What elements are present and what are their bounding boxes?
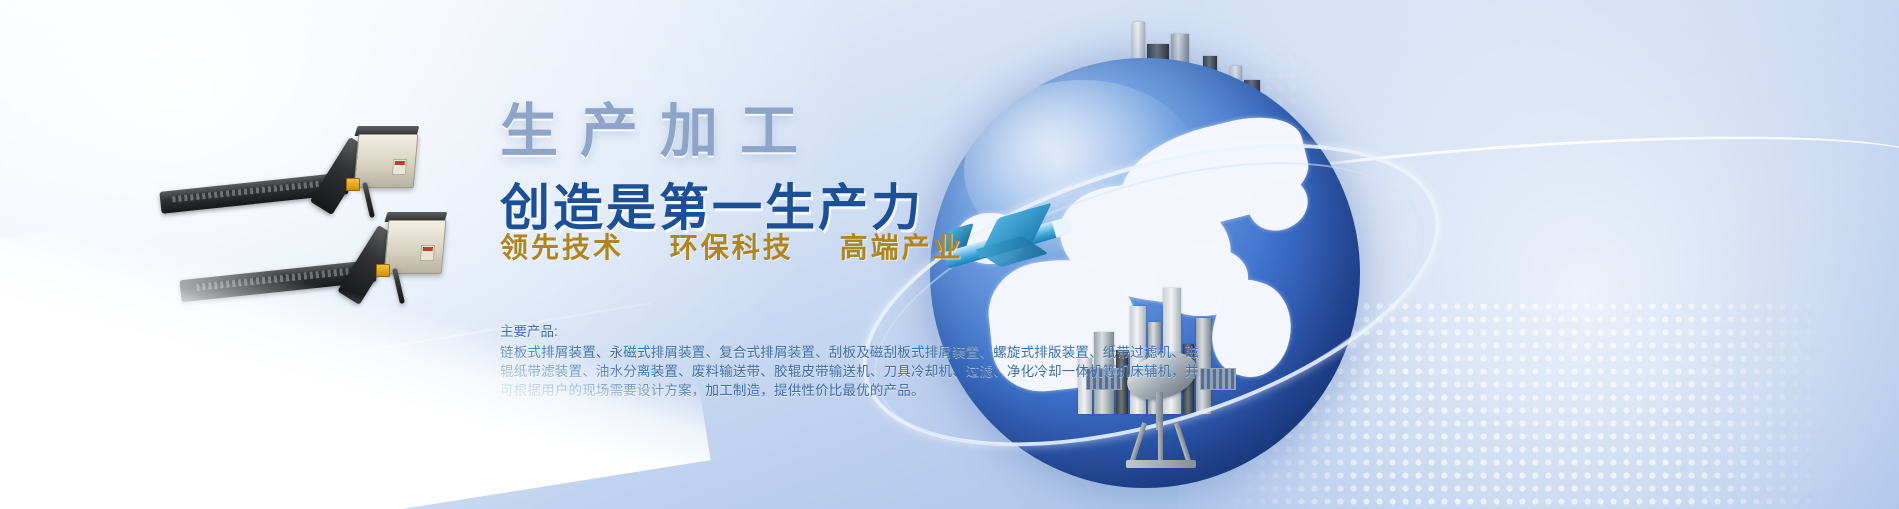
globe-graphic bbox=[930, 58, 1360, 488]
banner-keywords: 领先技术 环保科技 高端产业 bbox=[500, 226, 964, 266]
chip-conveyor-machine-image bbox=[160, 120, 490, 340]
product-description: 主要产品: 链板式排屑装置、永磁式排屑装置、复合式排屑装置、刮板及磁刮板式排屑装… bbox=[500, 322, 1200, 400]
promotional-banner: 生产加工 创造是第一生产力 领先技术 环保科技 高端产业 主要产品: 链板式排屑… bbox=[0, 0, 1899, 509]
banner-headline: 生产加工 bbox=[500, 84, 820, 168]
keyword-item: 领先技术 bbox=[500, 232, 624, 263]
product-list-body: 链板式排屑装置、永磁式排屑装置、复合式排屑装置、刮板及磁刮板式排屑装置、螺旋式排… bbox=[500, 343, 1200, 400]
keyword-item: 高端产业 bbox=[840, 232, 964, 263]
keyword-item: 环保科技 bbox=[670, 232, 794, 263]
product-list-title: 主要产品: bbox=[500, 322, 1200, 341]
